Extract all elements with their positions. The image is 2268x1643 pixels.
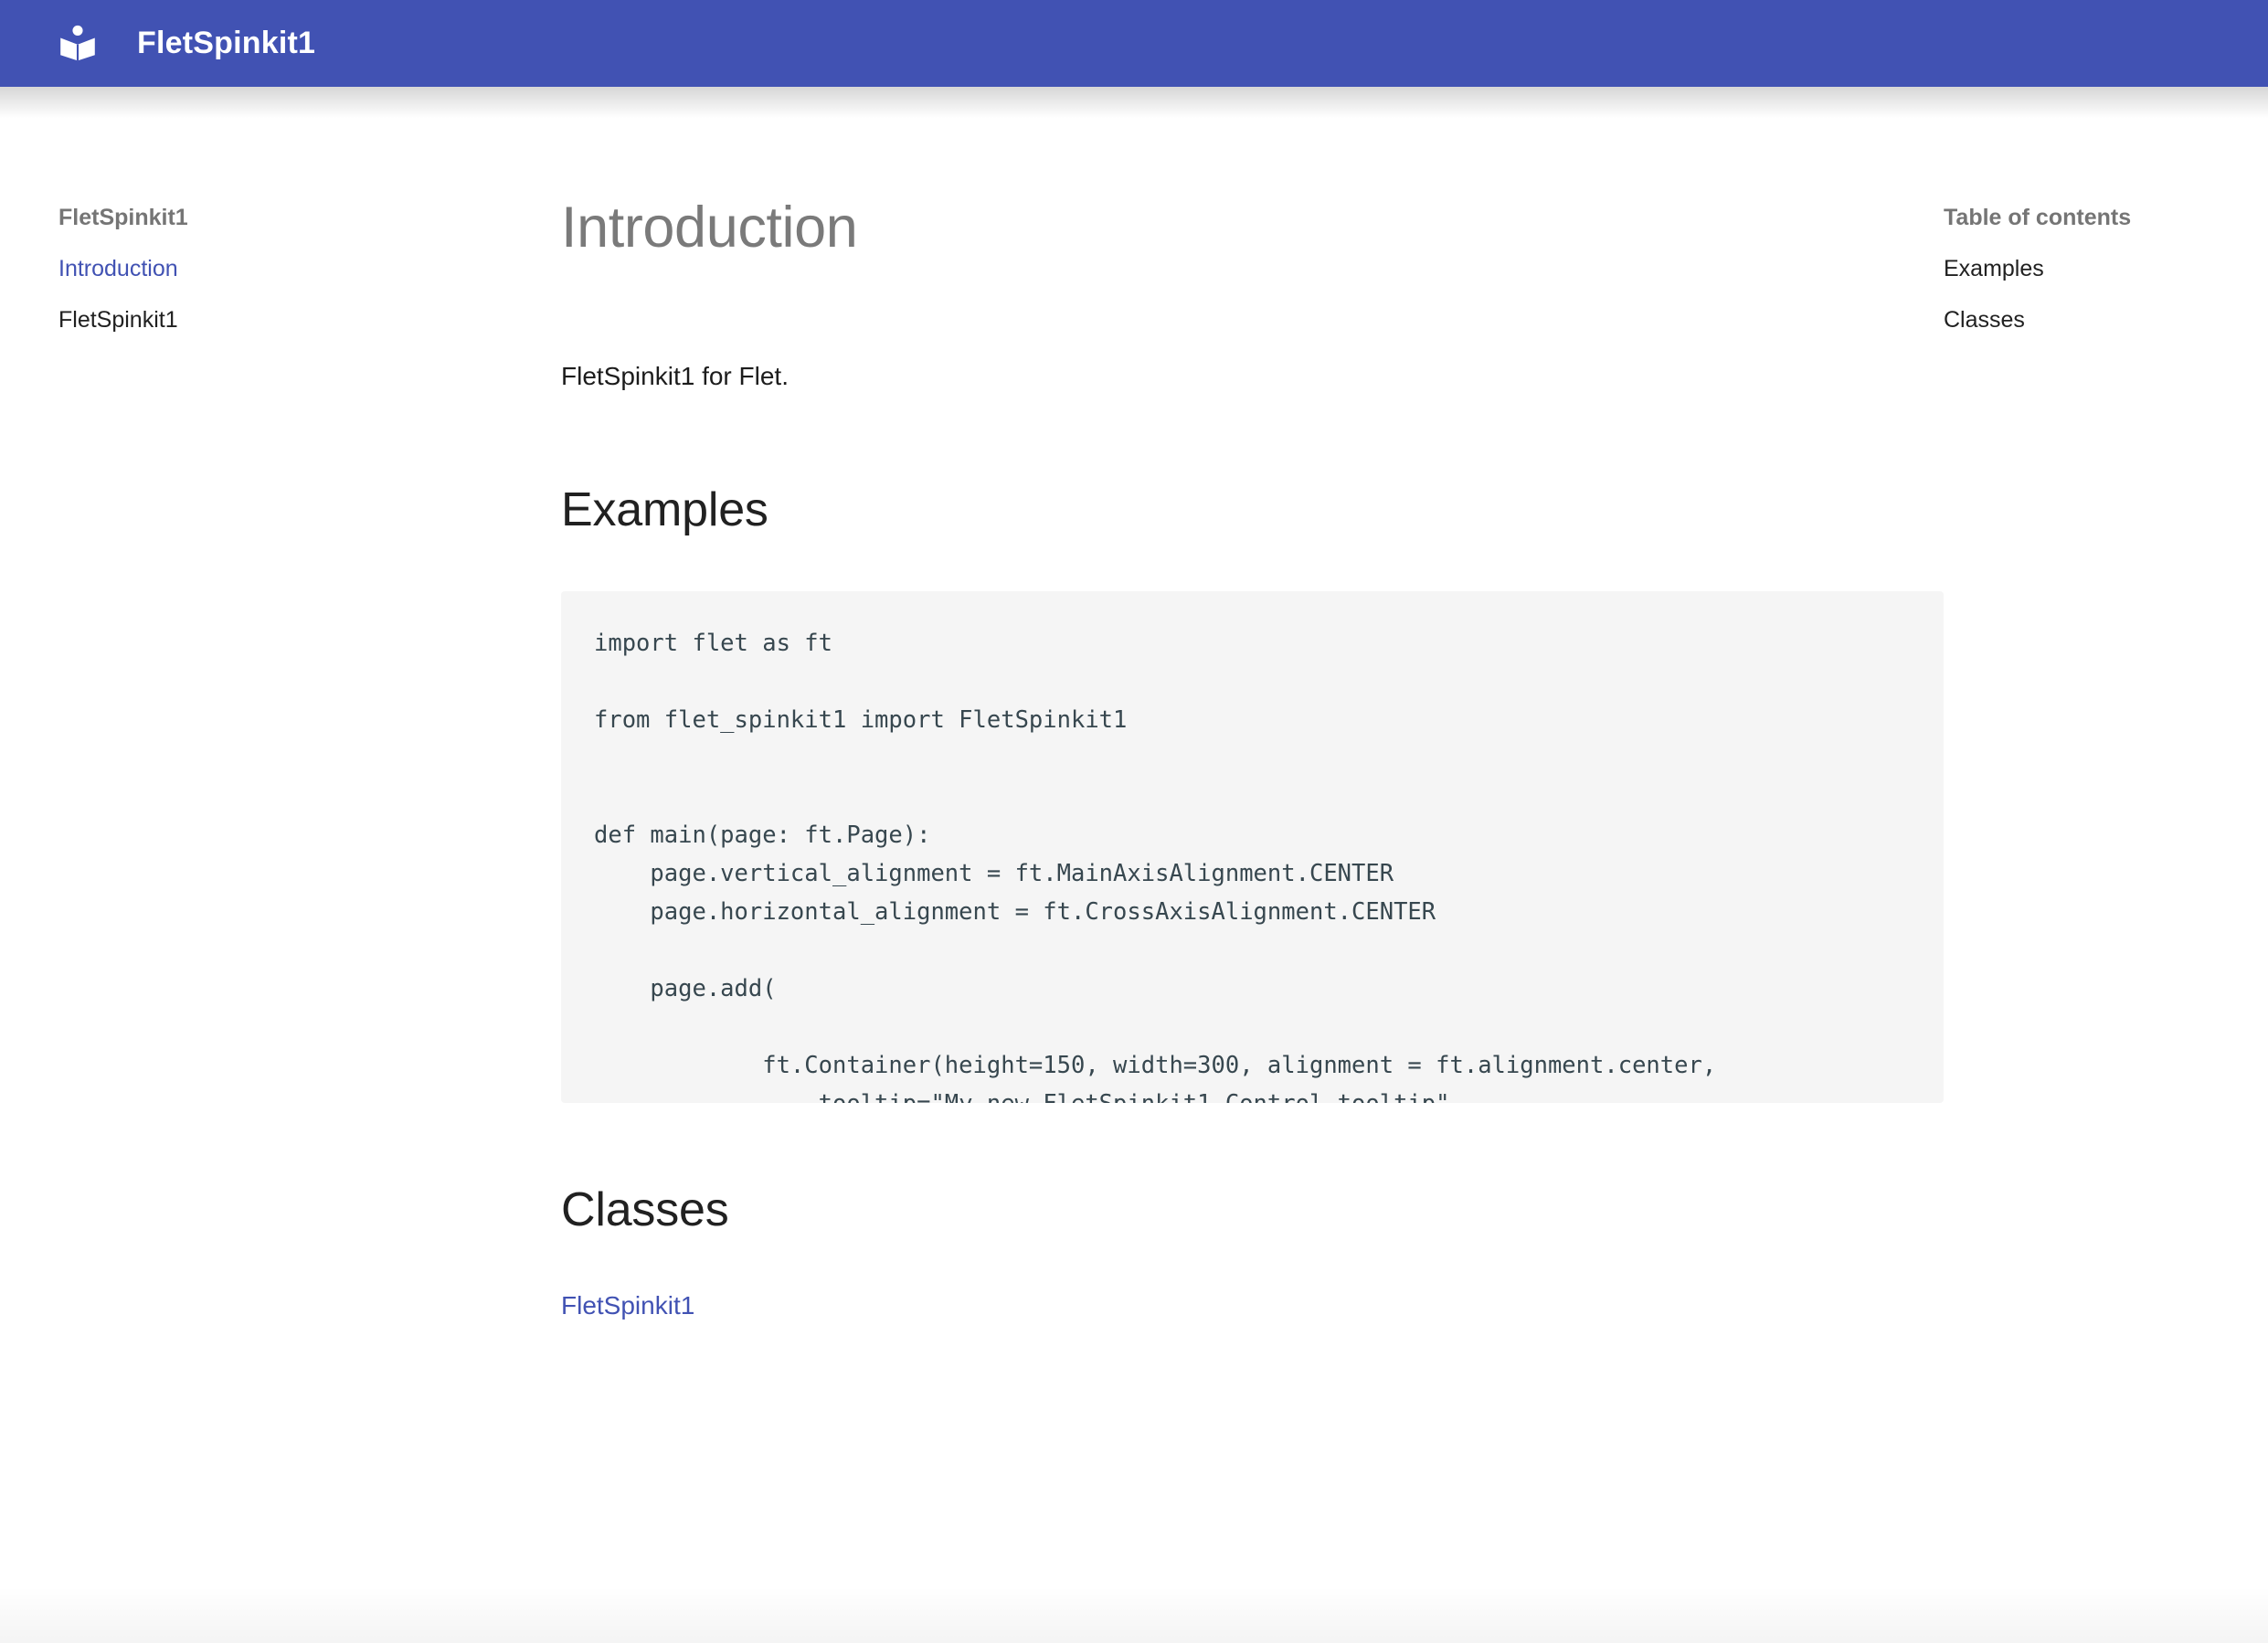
section-heading-classes: Classes [561,1183,1944,1238]
app-header: FletSpinkit1 [0,0,2268,87]
primary-sidebar: FletSpinkit1 Introduction FletSpinkit1 [0,87,561,357]
sidebar-section-title: FletSpinkit1 [58,204,561,231]
code-block: import flet as ft from flet_spinkit1 imp… [561,591,1944,1103]
book-reader-icon [57,23,99,65]
sidebar-item-introduction[interactable]: Introduction [58,255,178,282]
toc-title: Table of contents [1944,204,2268,231]
code-block-content[interactable]: import flet as ft from flet_spinkit1 imp… [561,591,1944,1103]
toc-item-classes[interactable]: Classes [1944,306,2025,334]
toc-item-examples[interactable]: Examples [1944,255,2044,282]
intro-paragraph: FletSpinkit1 for Flet. [561,357,1944,396]
main-content: Introduction FletSpinkit1 for Flet. Exam… [561,87,1944,1320]
section-heading-examples: Examples [561,483,1944,538]
sidebar-item-fletspinkit1[interactable]: FletSpinkit1 [58,306,178,334]
page-body: FletSpinkit1 Introduction FletSpinkit1 I… [0,87,2268,1643]
app-title: FletSpinkit1 [137,26,315,61]
table-of-contents: Table of contents Examples Classes [1944,87,2268,357]
page-title: Introduction [561,195,1944,260]
class-link-fletspinkit1[interactable]: FletSpinkit1 [561,1291,694,1320]
